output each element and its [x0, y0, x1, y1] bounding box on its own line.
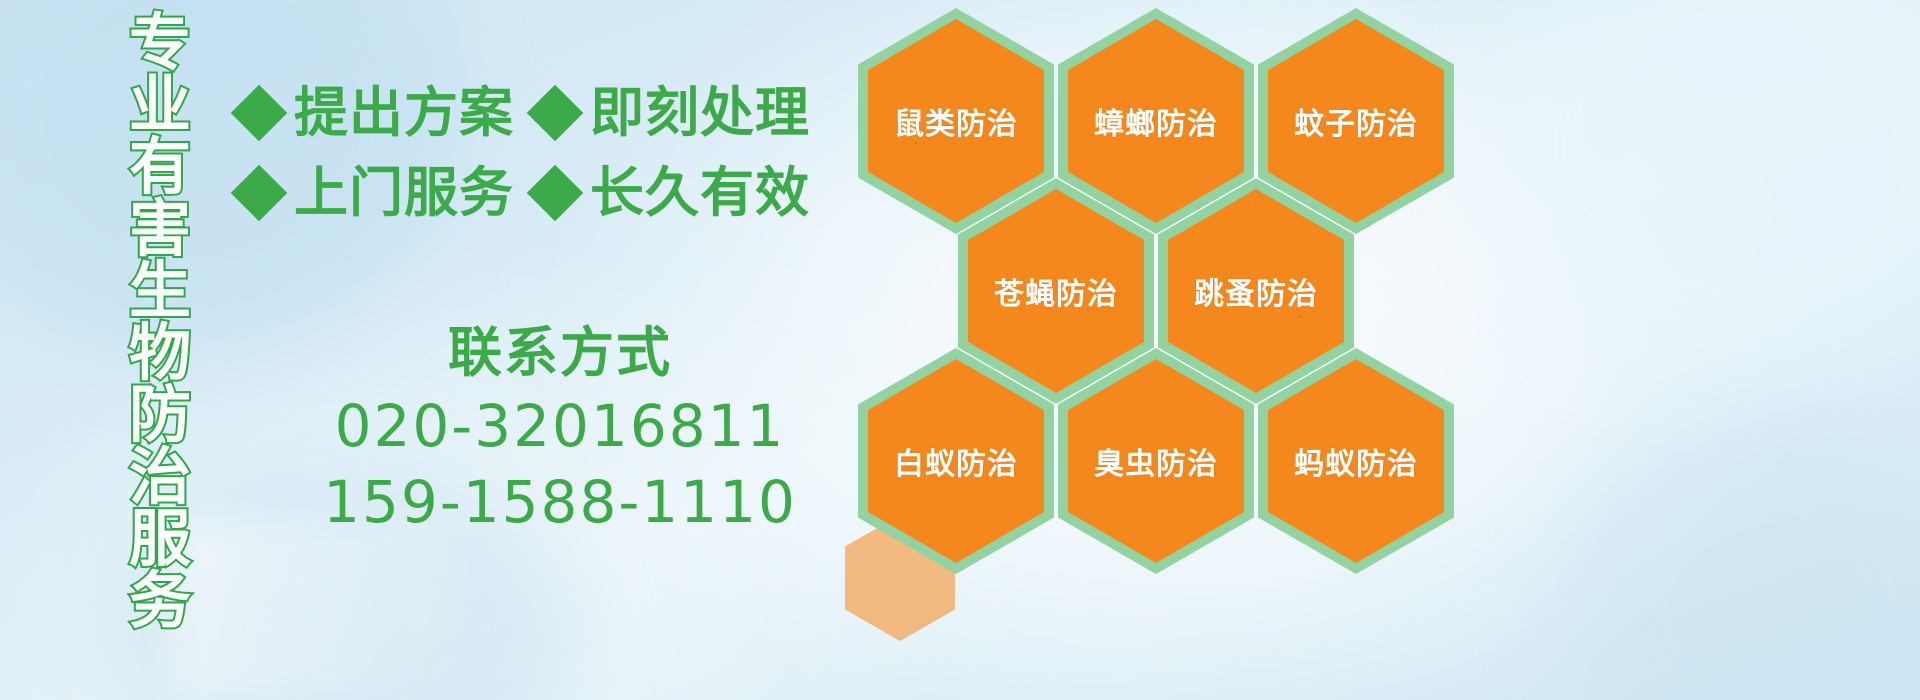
feature-row: 提出方案 即刻处理	[232, 84, 872, 142]
feature-label: 提出方案	[294, 84, 514, 142]
feature-item: 上门服务	[232, 164, 528, 222]
background-blob	[1480, 0, 1920, 380]
service-hexagon-label: 蚂蚁防治	[1258, 348, 1454, 574]
vertical-headline-char: 害	[129, 198, 191, 260]
feature-label: 长久有效	[590, 164, 810, 222]
feature-item: 即刻处理	[528, 84, 824, 142]
promo-banner: 专 业 有 害 生 物 防 治 服 务 提出方案 即刻处理 上门服务	[0, 0, 1920, 700]
vertical-headline-char: 务	[129, 570, 191, 632]
service-hexagon-grid: 鼠类防治 蟑螂防治 蚊子防治 苍蝇防治 跳蚤防治 白蚁防治	[858, 8, 1458, 548]
feature-list: 提出方案 即刻处理 上门服务 长久有效	[232, 84, 872, 244]
service-hexagon-bedbug[interactable]: 臭虫防治	[1058, 348, 1254, 574]
background-blob	[1560, 420, 1920, 700]
feature-label: 即刻处理	[590, 84, 810, 142]
diamond-icon	[232, 166, 286, 220]
diamond-icon	[528, 86, 582, 140]
feature-item: 提出方案	[232, 84, 528, 142]
vertical-headline-char: 防	[129, 384, 191, 446]
service-hexagon-ant[interactable]: 蚂蚁防治	[1258, 348, 1454, 574]
diamond-icon	[528, 166, 582, 220]
vertical-headline-char: 业	[129, 74, 191, 136]
vertical-headline-char: 物	[129, 322, 191, 384]
diamond-icon	[232, 86, 286, 140]
contact-phone-mobile[interactable]: 159-1588-1110	[300, 464, 820, 540]
vertical-headline-char: 治	[129, 446, 191, 508]
feature-item: 长久有效	[528, 164, 824, 222]
vertical-headline-char: 专	[129, 12, 191, 74]
contact-title: 联系方式	[300, 318, 820, 388]
contact-block: 联系方式 020-32016811 159-1588-1110	[300, 318, 820, 540]
contact-phone-landline[interactable]: 020-32016811	[300, 388, 820, 464]
feature-label: 上门服务	[294, 164, 514, 222]
service-hexagon-label: 臭虫防治	[1058, 348, 1254, 574]
vertical-headline-char: 服	[129, 508, 191, 570]
service-hexagon-termite[interactable]: 白蚁防治	[858, 348, 1054, 574]
service-hexagon-label: 白蚁防治	[858, 348, 1054, 574]
vertical-headline-char: 生	[129, 260, 191, 322]
vertical-headline: 专 业 有 害 生 物 防 治 服 务	[104, 12, 216, 572]
feature-row: 上门服务 长久有效	[232, 164, 872, 222]
vertical-headline-char: 有	[129, 136, 191, 198]
